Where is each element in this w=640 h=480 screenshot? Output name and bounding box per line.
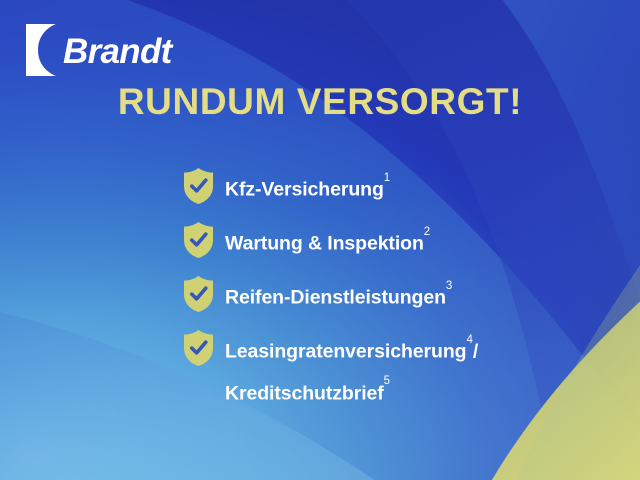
bracket-mark-icon — [26, 24, 56, 76]
footnote-marker: 5 — [384, 375, 390, 387]
footnote-marker: 4 — [466, 334, 472, 346]
shield-check-icon — [182, 221, 215, 259]
list-item: Reifen-Dienstleistungen3 — [182, 274, 602, 313]
benefits-list: Kfz-Versicherung1 Wartung & Inspektion2 … — [182, 166, 602, 406]
benefit-separator: / — [473, 341, 478, 363]
footnote-marker: 2 — [424, 226, 430, 238]
list-item-label: Kfz-Versicherung1 — [225, 166, 390, 203]
list-item-label: Leasingratenversicherung4/ Kreditschutzb… — [225, 328, 478, 406]
page-title: RUNDUM VERSORGT! — [0, 83, 640, 122]
benefit-label: Leasingratenversicherung — [225, 341, 466, 363]
list-item: Leasingratenversicherung4/ Kreditschutzb… — [182, 328, 602, 406]
benefit-label: Wartung & Inspektion — [225, 233, 424, 255]
benefit-label-secondary: Kreditschutzbrief — [225, 382, 384, 404]
benefit-label-line2: Kreditschutzbrief5 — [225, 376, 478, 407]
footnote-marker: 3 — [446, 280, 452, 292]
list-item-label: Reifen-Dienstleistungen3 — [225, 274, 452, 311]
brand-name: Brandt — [63, 34, 172, 69]
footnote-marker: 1 — [384, 172, 390, 184]
list-item: Wartung & Inspektion2 — [182, 220, 602, 259]
benefit-label: Kfz-Versicherung — [225, 179, 384, 201]
list-item-label: Wartung & Inspektion2 — [225, 220, 430, 257]
brand-logo[interactable]: Brandt — [26, 24, 172, 76]
promo-slide: Brandt RUNDUM VERSORGT! Kfz-Versicherung… — [0, 0, 640, 480]
benefit-label: Reifen-Dienstleistungen — [225, 287, 446, 309]
list-item: Kfz-Versicherung1 — [182, 166, 602, 205]
shield-check-icon — [182, 275, 215, 313]
shield-check-icon — [182, 329, 215, 367]
shield-check-icon — [182, 167, 215, 205]
